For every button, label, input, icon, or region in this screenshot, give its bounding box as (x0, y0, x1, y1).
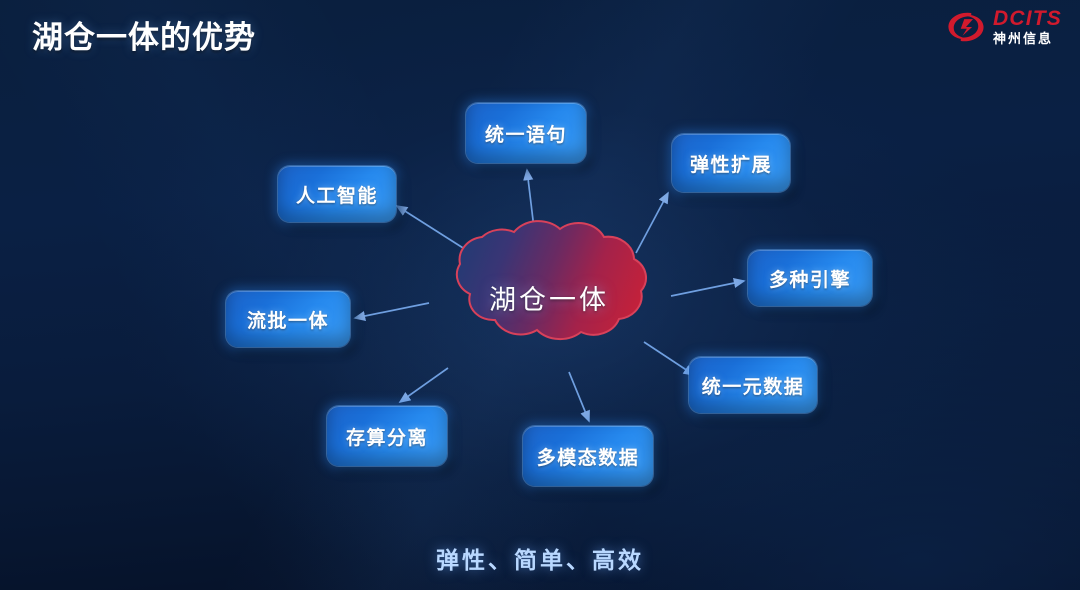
slide-caption: 弹性、简单、高效 (0, 541, 1080, 575)
node-unified-sql[interactable]: 统一语句 (466, 103, 586, 163)
hub-and-spoke-diagram: 湖仓一体 人工智能统一语句弹性扩展多种引擎统一元数据多模态数据存算分离流批一体 (0, 0, 1080, 590)
node-stream-batch-label: 流批一体 (247, 306, 329, 333)
node-multimodal-label: 多模态数据 (537, 443, 640, 470)
node-elastic-scale-label: 弹性扩展 (690, 150, 772, 177)
node-multi-engine-label: 多种引擎 (769, 265, 851, 292)
node-storage-sep-label: 存算分离 (346, 423, 428, 450)
node-ai-label: 人工智能 (296, 181, 378, 208)
node-unified-sql-label: 统一语句 (485, 120, 567, 147)
node-multi-engine[interactable]: 多种引擎 (748, 250, 872, 306)
node-storage-sep[interactable]: 存算分离 (327, 406, 447, 466)
node-multimodal[interactable]: 多模态数据 (523, 426, 653, 486)
slide-canvas: 湖仓一体的优势 DCITS 神州信息 (0, 0, 1080, 590)
node-unified-meta-label: 统一元数据 (702, 372, 805, 399)
arrow-to-multi-engine (671, 281, 744, 296)
center-cloud-label: 湖仓一体 (418, 216, 680, 378)
node-stream-batch[interactable]: 流批一体 (226, 291, 350, 347)
node-elastic-scale[interactable]: 弹性扩展 (672, 134, 790, 192)
node-unified-meta[interactable]: 统一元数据 (689, 357, 817, 413)
arrow-to-multimodal (569, 372, 589, 421)
center-cloud: 湖仓一体 (418, 216, 680, 378)
node-ai[interactable]: 人工智能 (278, 166, 396, 222)
